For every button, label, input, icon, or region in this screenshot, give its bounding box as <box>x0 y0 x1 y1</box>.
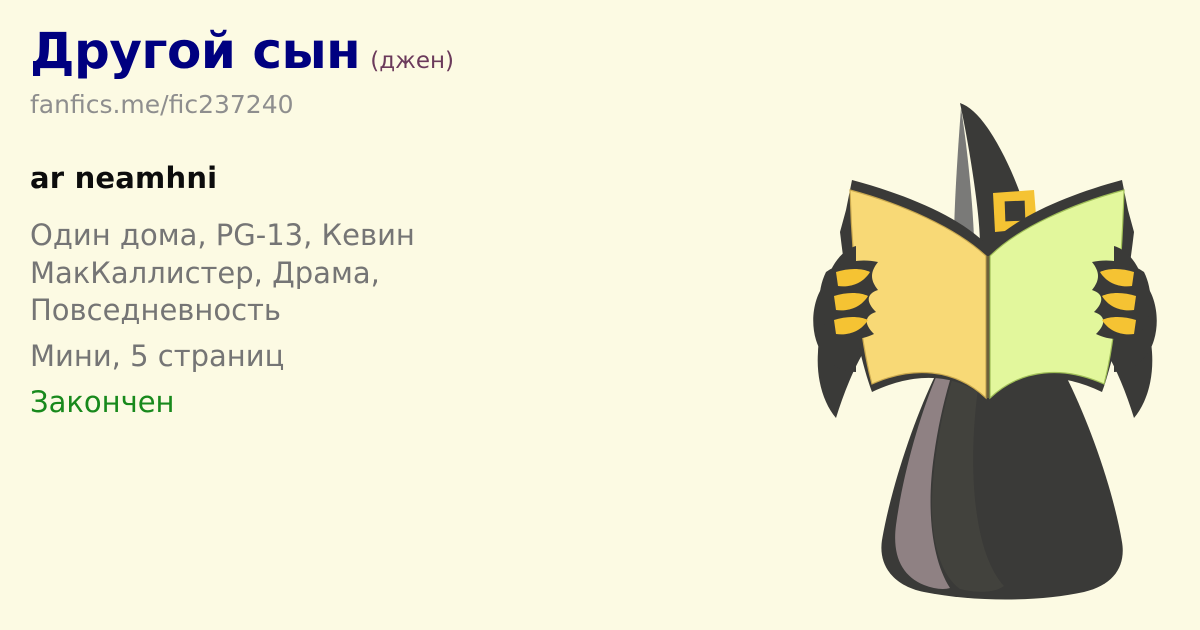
fic-text-column: Другой сын(джен) fanfics.me/fic237240 ar… <box>30 26 730 421</box>
fic-title[interactable]: Другой сын <box>30 22 360 80</box>
fanfic-preview-card: Другой сын(джен) fanfics.me/fic237240 ar… <box>0 0 1200 630</box>
book-spine <box>987 256 989 398</box>
fic-title-row: Другой сын(джен) <box>30 26 730 76</box>
fic-url[interactable]: fanfics.me/fic237240 <box>30 90 730 119</box>
fic-size: Мини, 5 страниц <box>30 338 590 376</box>
fic-fandom-tags: Один дома, PG-13, Кевин МакКаллистер, Др… <box>30 217 575 330</box>
fic-author[interactable]: ar neamhni <box>30 161 730 195</box>
witch-illustration-svg <box>774 0 1194 630</box>
hat-buckle-hole <box>1005 201 1026 222</box>
witch-reading-book-illustration <box>774 0 1194 630</box>
fic-meta-block: Один дома, PG-13, Кевин МакКаллистер, Др… <box>30 217 730 421</box>
fic-category-label: (джен) <box>370 48 454 74</box>
fic-status-badge: Закончен <box>30 384 730 422</box>
